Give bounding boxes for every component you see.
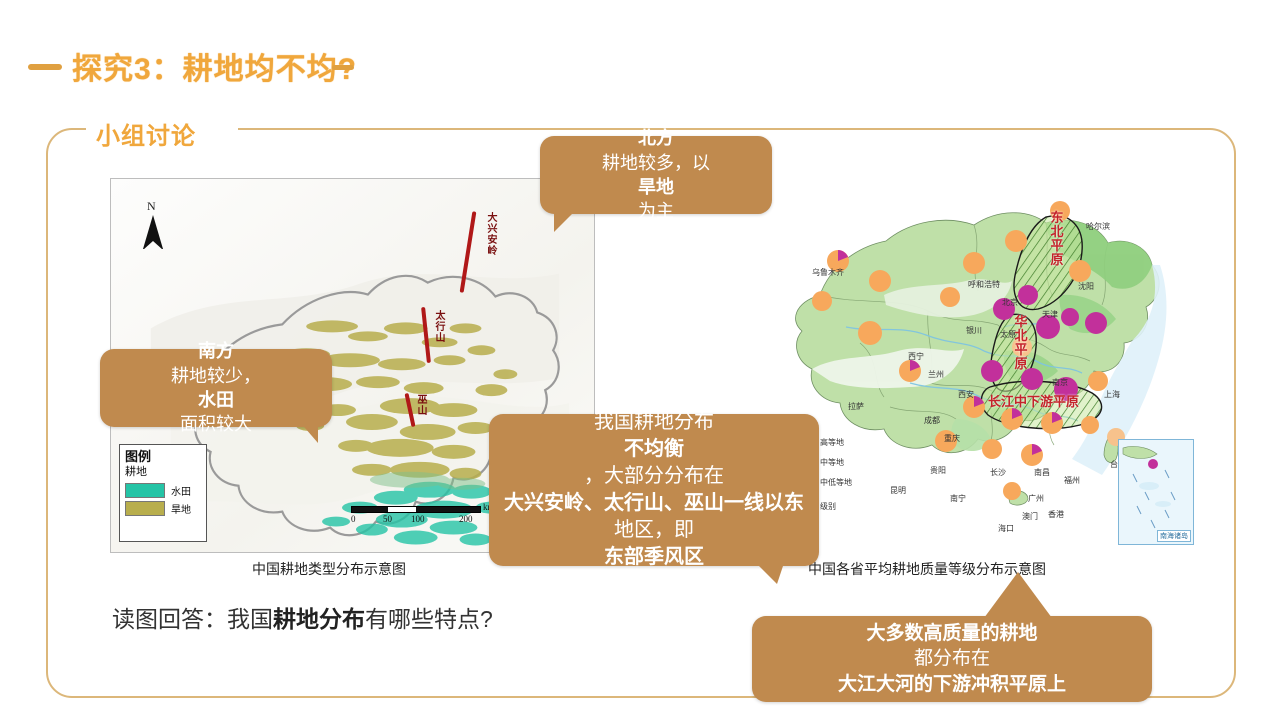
legend-swatch-paddy [125, 483, 165, 498]
scale-bar-bar [351, 506, 481, 513]
city-label-xianggang: 香港 [1048, 509, 1064, 520]
legend-swatch-dryland [125, 501, 165, 516]
city-label-chengdu: 成都 [924, 415, 940, 426]
left-map-caption: 中国耕地类型分布示意图 [252, 559, 406, 579]
legend-subtitle: 耕地 [125, 465, 201, 480]
legend-label-dryland: 旱地 [171, 501, 191, 516]
sea-inset-caption: 南海诸岛 [1157, 530, 1191, 542]
city-label-guiyang: 贵阳 [930, 465, 946, 476]
city-label-xian: 西安 [958, 389, 974, 400]
scale-bar-ticks: 0 50 100 200 [351, 513, 481, 527]
right-legend-mid: 中等地 [820, 457, 844, 468]
city-label-nanchang: 南昌 [1034, 467, 1050, 478]
city-label-huhehaote: 呼和浩特 [968, 279, 1000, 290]
section-label: 小组讨论 [96, 116, 196, 151]
legend-label-paddy: 水田 [171, 483, 191, 498]
city-label-haerbin: 哈尔滨 [1086, 221, 1110, 232]
callout-north-cropland[interactable]: 北方耕地较多，以旱地为主 [540, 136, 772, 214]
sea-inset-graphic [1119, 440, 1193, 544]
taihangshan-label: 太行山 [435, 311, 446, 344]
title-dash-right [332, 65, 354, 70]
callout-north-cropland-text: 北方耕地较多，以旱地为主 [582, 126, 730, 223]
question-keyword: 耕地分布 [273, 606, 365, 632]
city-label-beijing: 北京 [1002, 297, 1018, 308]
callout-south-cropland-text: 南方耕地较少，水田面积较大 [151, 339, 281, 436]
callout-south-tail [292, 413, 318, 443]
scale-tick-50: 50 [383, 514, 392, 524]
callout-high-quality-plains-text: 大多数高质量的耕地都分布在大江大河的下游冲积平原上 [828, 621, 1076, 698]
city-label-lasa: 拉萨 [848, 401, 864, 412]
slide-root: 探究3：耕地均不均? 小组讨论 [0, 0, 1280, 720]
city-label-nanjing: 南京 [1052, 377, 1068, 388]
question-prefix: 读图回答：我国 [112, 606, 273, 632]
city-label-fuzhou: 福州 [1064, 475, 1080, 486]
city-label-guangzhou: 广州 [1028, 493, 1044, 504]
right-legend-high: 高等地 [820, 437, 844, 448]
compass-notch [143, 241, 163, 250]
plain-label-northeast: 东北平原 [1050, 211, 1064, 267]
wushan-label: 巫山 [417, 395, 428, 417]
city-label-kunming: 昆明 [890, 485, 906, 496]
scale-tick-200: 200 [459, 514, 473, 524]
reading-question: 读图回答：我国耕地分布有哪些特点? [112, 600, 493, 634]
scale-tick-100: 100 [411, 514, 425, 524]
legend-row-dryland: 旱地 [125, 501, 201, 516]
right-legend-title: 级别 [820, 501, 836, 512]
city-label-nanning: 南宁 [950, 493, 966, 504]
city-label-aomen: 澳门 [1022, 511, 1038, 522]
city-label-shenyang: 沈阳 [1078, 281, 1094, 292]
city-label-lanzhou: 兰州 [928, 369, 944, 380]
scale-bar: 0 50 100 200 km [351, 506, 481, 527]
compass-icon: N [141, 201, 167, 251]
title-dash-left [28, 64, 62, 70]
compass-north-label: N [147, 199, 156, 214]
south-china-sea-inset: 南海诸岛 [1118, 439, 1194, 545]
city-label-shanghai: 上海 [1104, 389, 1120, 400]
legend-title: 图例 [125, 449, 201, 465]
city-label-changsha: 长沙 [990, 467, 1006, 478]
callout-high-quality-tail [984, 572, 1052, 618]
callout-high-quality-plains[interactable]: 大多数高质量的耕地都分布在大江大河的下游冲积平原上 [752, 616, 1152, 702]
city-label-taiyuan: 太原 [1000, 329, 1016, 340]
legend-row-paddy: 水田 [125, 483, 201, 498]
question-suffix: 有哪些特点? [365, 606, 493, 632]
callout-uneven-distribution[interactable]: 我国耕地分布不均衡，大部分分布在大兴安岭、太行山、巫山一线以东地区，即东部季风区 [489, 414, 819, 566]
city-label-wulumuqi: 乌鲁木齐 [812, 267, 844, 278]
page-title: 探究3：耕地均不均? [72, 44, 357, 88]
plain-label-northchina: 华北平原 [1014, 315, 1028, 371]
right-legend-midlow: 中低等地 [820, 477, 852, 488]
city-label-tianjin: 天津 [1042, 309, 1058, 320]
city-label-chongqing: 重庆 [944, 433, 960, 444]
right-map-panel: 东北平原 华北平原 长江中下游平原 乌鲁木齐 呼和浩特 北京 天津 沈阳 哈尔滨… [760, 175, 1200, 555]
city-label-xining: 西宁 [908, 351, 924, 362]
callout-uneven-distribution-text: 我国耕地分布不均衡，大部分分布在大兴安岭、太行山、巫山一线以东地区，即东部季风区 [494, 409, 814, 571]
city-label-haikou: 海口 [998, 523, 1014, 534]
plain-label-yangtze: 长江中下游平原 [988, 391, 1079, 410]
daxinganling-label: 大兴安岭 [487, 213, 498, 257]
callout-south-cropland[interactable]: 南方耕地较少，水田面积较大 [100, 349, 332, 427]
left-map-legend: 图例 耕地 水田 旱地 [119, 444, 207, 542]
callout-uneven-tail [753, 560, 785, 584]
title-row: 探究3：耕地均不均? [0, 48, 1280, 90]
scale-tick-0: 0 [351, 514, 356, 524]
city-label-yinchuan: 银川 [966, 325, 982, 336]
callout-north-tail [554, 206, 580, 232]
